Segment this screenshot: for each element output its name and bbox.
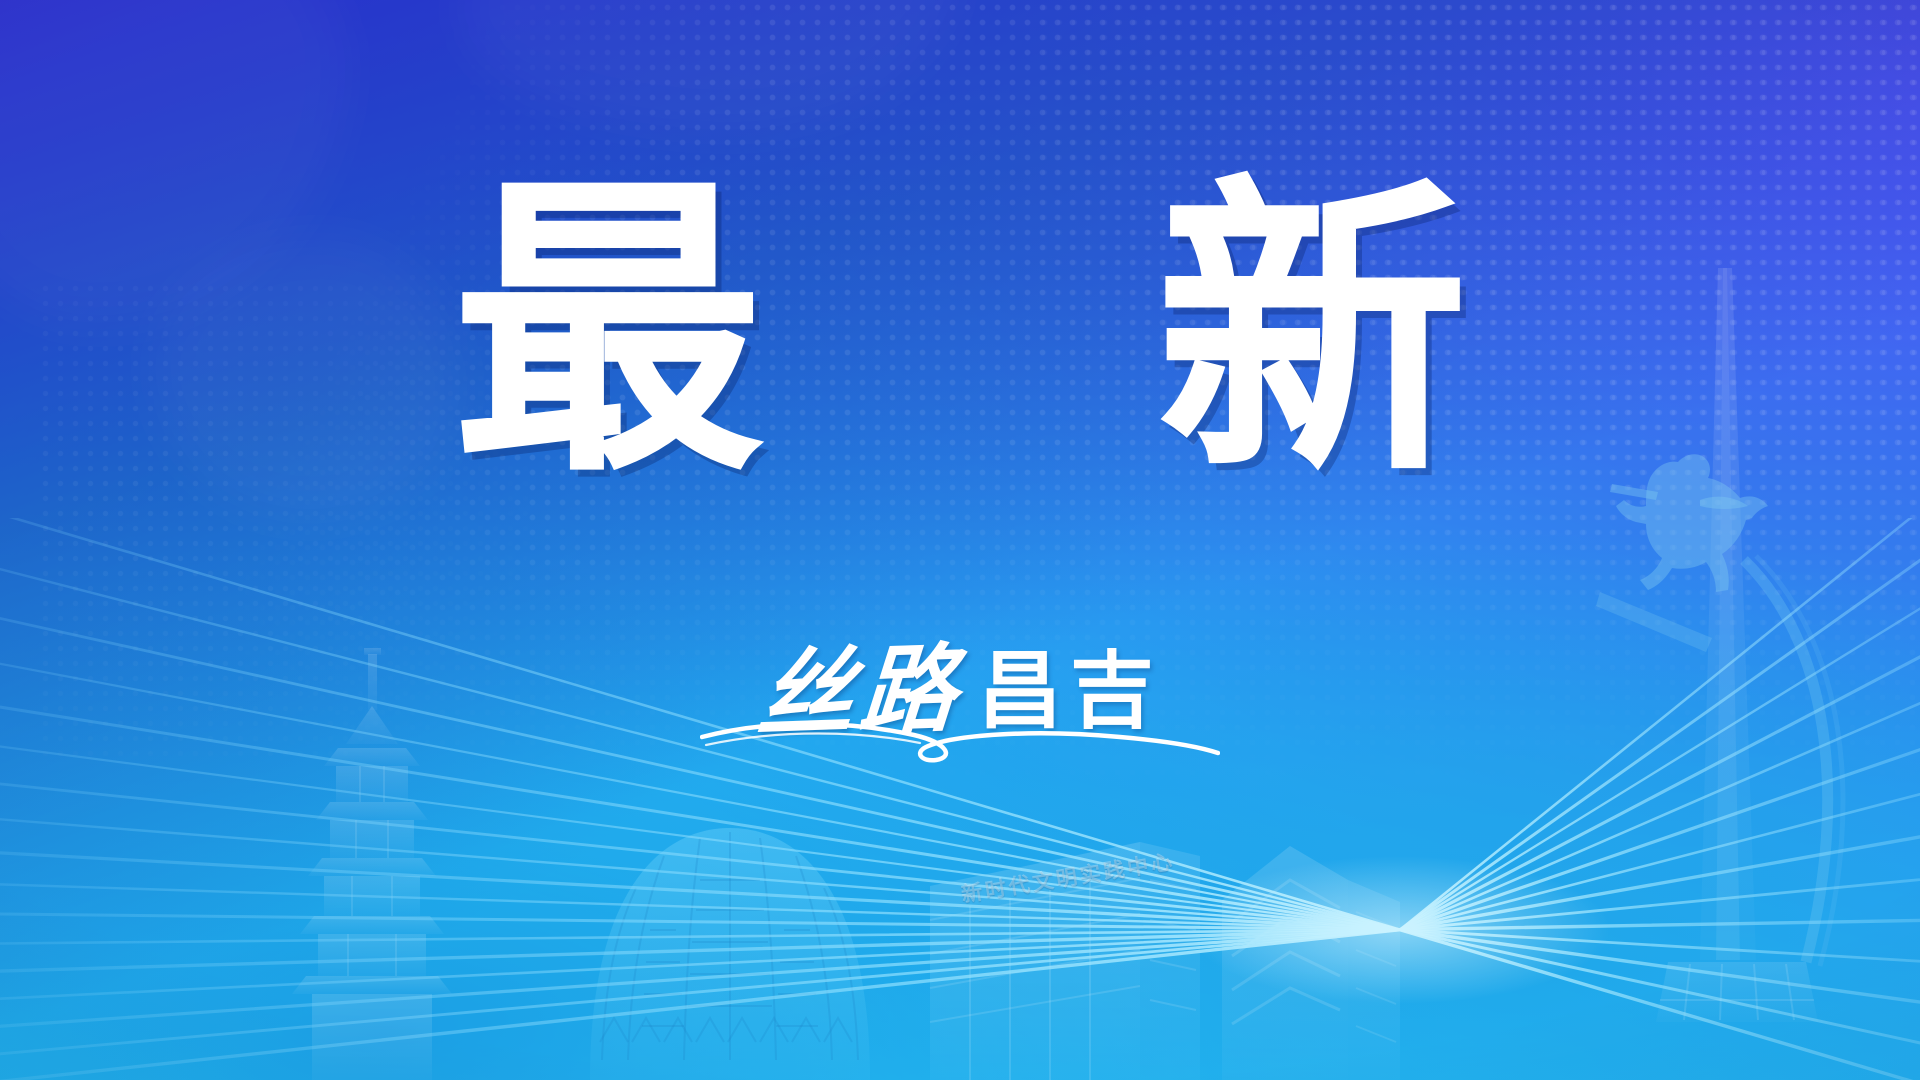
vignette-overlay: [0, 0, 1920, 1080]
poster-canvas: 最 新 丝路 昌吉 新时代文明实践中心: [0, 0, 1920, 1080]
